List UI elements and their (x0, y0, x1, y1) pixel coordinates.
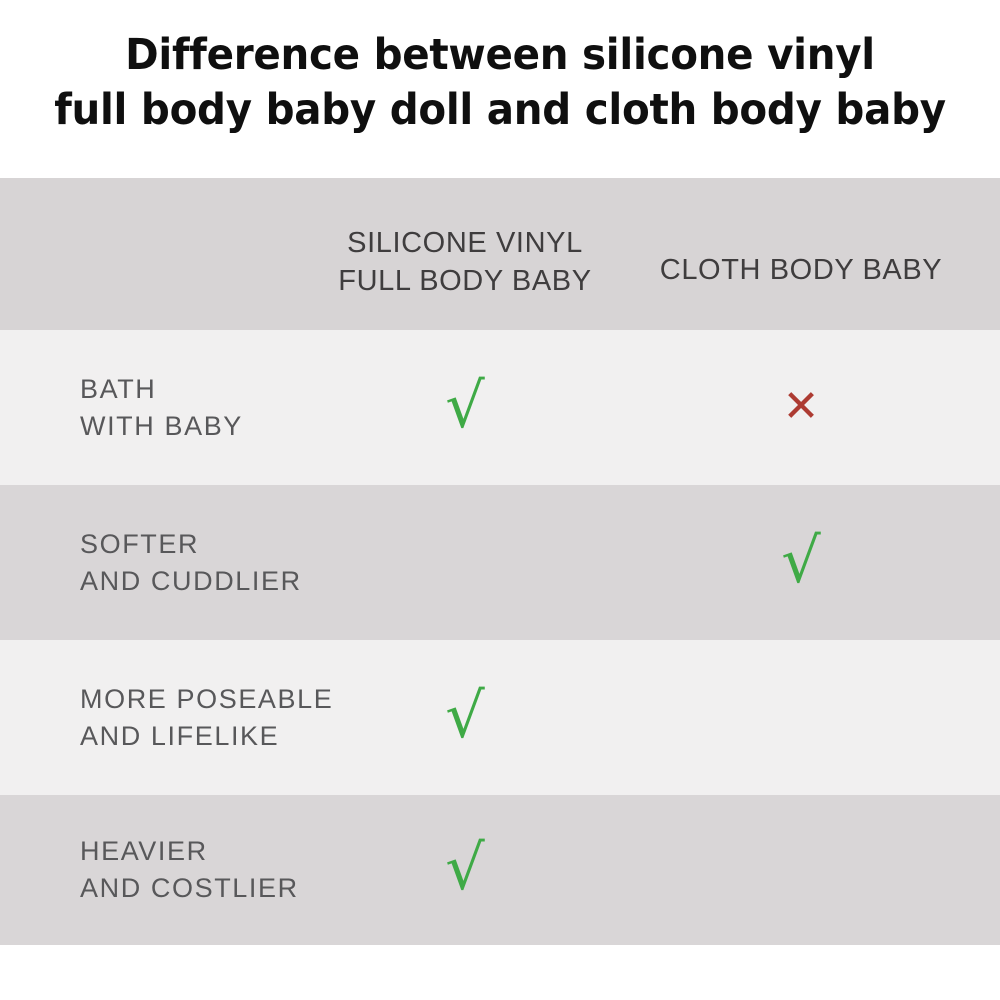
header-silicone-line-2: FULL BODY BABY (338, 262, 591, 300)
table-row: BATH WITH BABY √ ✕ (0, 330, 1000, 485)
page-title-line-2: full body baby doll and cloth body baby (30, 83, 970, 138)
header-cloth-line-1: CLOTH BODY BABY (660, 251, 942, 289)
header-cloth-text-wrap: CLOTH BODY BABY (660, 251, 942, 289)
header-cell-silicone-vinyl-full-body-baby: SILICONE VINYL FULL BODY BABY (335, 178, 595, 330)
check-icon: √ (781, 530, 821, 592)
cell-heavier-cloth (662, 795, 940, 945)
page-title: Difference between silicone vinyl full b… (0, 28, 1000, 138)
cell-heavier-silicone: √ (335, 795, 595, 945)
cell-poseable-silicone: √ (335, 640, 595, 795)
page-title-line-1: Difference between silicone vinyl (30, 28, 970, 83)
comparison-table: SILICONE VINYL FULL BODY BABY CLOTH BODY… (0, 178, 1000, 945)
table-header-row: SILICONE VINYL FULL BODY BABY CLOTH BODY… (0, 178, 1000, 330)
header-silicone-text-wrap: SILICONE VINYL FULL BODY BABY (338, 224, 591, 300)
cell-bath-silicone: √ (335, 330, 595, 485)
cross-icon: ✕ (783, 385, 820, 429)
table-row: SOFTER AND CUDDLIER √ (0, 485, 1000, 640)
header-cell-cloth-body-baby: CLOTH BODY BABY (662, 178, 940, 330)
table-row: MORE POSEABLE AND LIFELIKE √ (0, 640, 1000, 795)
cell-softer-silicone (335, 485, 595, 640)
table-row: HEAVIER AND COSTLIER √ (0, 795, 1000, 945)
cell-softer-cloth: √ (662, 485, 940, 640)
check-icon: √ (445, 685, 485, 747)
cell-poseable-cloth (662, 640, 940, 795)
comparison-infographic: { "title": { "line1": "Difference betwee… (0, 0, 1000, 1000)
cell-bath-cloth: ✕ (662, 330, 940, 485)
check-icon: √ (445, 837, 485, 899)
check-icon: √ (445, 375, 485, 437)
header-silicone-line-1: SILICONE VINYL (338, 224, 591, 262)
